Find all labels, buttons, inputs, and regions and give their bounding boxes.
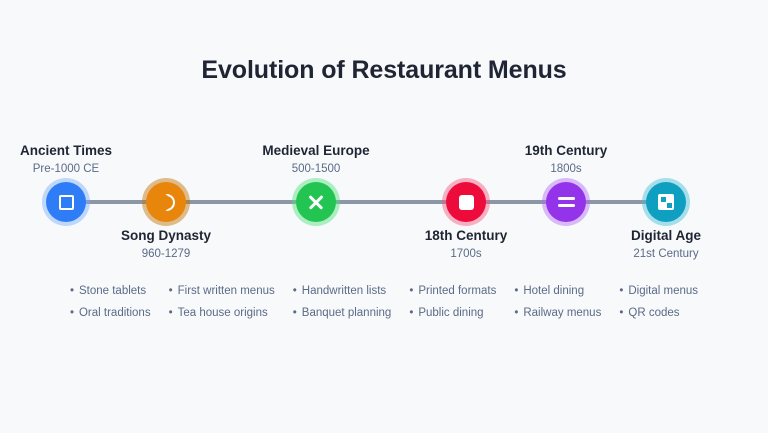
- detail-item: •Handwritten lists: [293, 286, 392, 298]
- detail-item: •First written menus: [169, 286, 275, 298]
- detail-item: •Public dining: [409, 308, 496, 320]
- timeline: Ancient TimesPre-1000 CESong Dynasty960-…: [0, 0, 768, 433]
- crescent-moon-icon: [158, 194, 175, 211]
- node-title: Ancient Times: [0, 143, 176, 160]
- detail-item-label: First written menus: [178, 285, 275, 297]
- node-subtitle: 1700s: [356, 247, 576, 261]
- square-filled-icon: [459, 195, 474, 210]
- detail-item: •Oral traditions: [70, 308, 151, 320]
- bullet-dot-icon: •: [169, 286, 173, 298]
- node-subtitle: 21st Century: [556, 247, 768, 261]
- node-marker[interactable]: [296, 182, 336, 222]
- bullet-dot-icon: •: [70, 286, 74, 298]
- bullet-dot-icon: •: [409, 286, 413, 298]
- detail-column: •Handwritten lists•Banquet planning: [284, 286, 401, 329]
- node-marker[interactable]: [446, 182, 486, 222]
- node-marker[interactable]: [646, 182, 686, 222]
- detail-item-label: Digital menus: [628, 285, 698, 297]
- node-label: Digital Age21st Century: [556, 228, 768, 261]
- detail-item: •Railway menus: [514, 308, 601, 320]
- bullet-dot-icon: •: [514, 286, 518, 298]
- qr-module: [667, 203, 672, 208]
- node-subtitle: 960-1279: [56, 247, 276, 261]
- detail-item-label: Railway menus: [523, 307, 601, 319]
- node-title: 19th Century: [456, 143, 676, 160]
- square-outline-icon: [59, 195, 74, 210]
- bullet-dot-icon: •: [70, 308, 74, 320]
- detail-item-label: Banquet planning: [302, 307, 392, 319]
- node-label: Medieval Europe500-1500: [206, 143, 426, 176]
- detail-item-label: Stone tablets: [79, 285, 146, 297]
- node-title: Digital Age: [556, 228, 768, 245]
- detail-item: •Hotel dining: [514, 286, 601, 298]
- bullet-dot-icon: •: [514, 308, 518, 320]
- node-subtitle: Pre-1000 CE: [0, 162, 176, 176]
- detail-column: •Digital menus•QR codes: [610, 286, 707, 329]
- equals-bars-icon: [558, 196, 575, 208]
- qr-module: [661, 197, 666, 202]
- detail-columns: •Stone tablets•Oral traditions•First wri…: [0, 286, 768, 329]
- bullet-dot-icon: •: [169, 308, 173, 320]
- detail-item-label: Printed formats: [418, 285, 496, 297]
- detail-column: •Printed formats•Public dining: [400, 286, 505, 329]
- node-label: 19th Century1800s: [456, 143, 676, 176]
- detail-item-label: Public dining: [418, 307, 483, 319]
- bullet-dot-icon: •: [409, 308, 413, 320]
- qr-code-icon: [658, 194, 674, 210]
- node-subtitle: 1800s: [456, 162, 676, 176]
- detail-column: •First written menus•Tea house origins: [160, 286, 284, 329]
- infographic-page: Evolution of Restaurant Menus Ancient Ti…: [0, 0, 768, 433]
- detail-item: •Printed formats: [409, 286, 496, 298]
- detail-item: •Tea house origins: [169, 308, 275, 320]
- detail-item: •QR codes: [619, 308, 698, 320]
- detail-item: •Digital menus: [619, 286, 698, 298]
- node-marker[interactable]: [146, 182, 186, 222]
- detail-column: •Hotel dining•Railway menus: [505, 286, 610, 329]
- detail-item-label: Tea house origins: [178, 307, 268, 319]
- node-marker[interactable]: [46, 182, 86, 222]
- detail-item-label: Oral traditions: [79, 307, 151, 319]
- node-title: Song Dynasty: [56, 228, 276, 245]
- node-title: Medieval Europe: [206, 143, 426, 160]
- node-label: 18th Century1700s: [356, 228, 576, 261]
- node-subtitle: 500-1500: [206, 162, 426, 176]
- bullet-dot-icon: •: [293, 308, 297, 320]
- detail-item: •Stone tablets: [70, 286, 151, 298]
- detail-item-label: QR codes: [628, 307, 679, 319]
- bullet-dot-icon: •: [293, 286, 297, 298]
- node-label: Song Dynasty960-1279: [56, 228, 276, 261]
- detail-column: •Stone tablets•Oral traditions: [61, 286, 160, 329]
- x-close-icon: [307, 193, 325, 211]
- node-marker[interactable]: [546, 182, 586, 222]
- node-title: 18th Century: [356, 228, 576, 245]
- detail-item-label: Handwritten lists: [302, 285, 386, 297]
- bullet-dot-icon: •: [619, 286, 623, 298]
- detail-item: •Banquet planning: [293, 308, 392, 320]
- detail-item-label: Hotel dining: [523, 285, 584, 297]
- bullet-dot-icon: •: [619, 308, 623, 320]
- node-label: Ancient TimesPre-1000 CE: [0, 143, 176, 176]
